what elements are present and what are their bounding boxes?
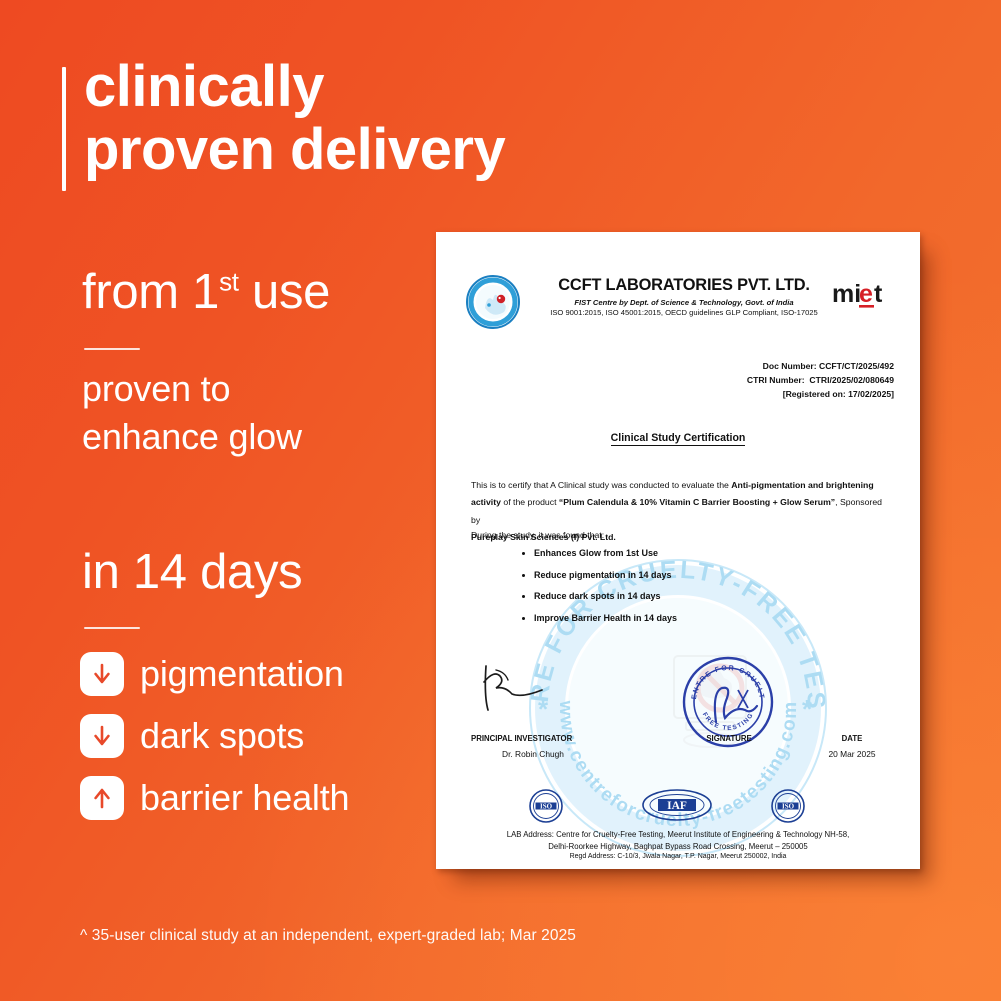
lab-address-line-1: LAB Address: Centre for Cruelty-Free Tes… bbox=[436, 829, 920, 841]
accreditation-badges: ISO IAF ISO bbox=[436, 788, 920, 824]
findings-intro: During the study, it was found that: bbox=[471, 530, 604, 540]
certificate-company-block: CCFT LABORATORIES PVT. LTD. FIST Centre … bbox=[540, 276, 828, 317]
document-meta: Doc Number: CCFT/CT/2025/492 CTRI Number… bbox=[747, 360, 894, 402]
claim-1-heading-post: use bbox=[239, 265, 330, 319]
regd-address: Regd Address: C-10/3, Jwala Nagar, T.P. … bbox=[436, 852, 920, 863]
svg-text:t: t bbox=[874, 280, 883, 308]
para-l2-b: of the product bbox=[501, 497, 559, 507]
para-l2-c: “Plum Calendula & 10% Vitamin C Barrier … bbox=[559, 497, 835, 507]
claim-2-heading: in 14 days bbox=[82, 548, 302, 597]
claim-1-body-line-2: enhance glow bbox=[82, 413, 302, 461]
svg-text:*: * bbox=[802, 694, 813, 724]
certificate-title: Clinical Study Certification bbox=[436, 432, 920, 444]
para-l1-a: This is to certify that A Clinical study… bbox=[471, 480, 731, 490]
miet-logo-icon: mi e t bbox=[832, 278, 898, 312]
footnote-disclaimer: ^ 35-user clinical study at an independe… bbox=[80, 927, 576, 945]
arrow-up-icon bbox=[80, 776, 124, 820]
benefit-label: barrier health bbox=[140, 780, 349, 816]
divider-2 bbox=[84, 627, 140, 629]
divider-1 bbox=[84, 348, 140, 350]
date-label: DATE bbox=[842, 734, 863, 743]
svg-text:ISO: ISO bbox=[540, 802, 553, 810]
headline-line-1: clinically bbox=[84, 54, 324, 119]
claim-1-body-line-1: proven to bbox=[82, 365, 302, 413]
handwritten-signature bbox=[476, 660, 556, 718]
paragraph-line-1: This is to certify that A Clinical study… bbox=[471, 477, 885, 494]
company-subtitle-2: ISO 9001:2015, ISO 45001:2015, OECD guid… bbox=[540, 308, 828, 317]
company-subtitle-1: FIST Centre by Dept. of Science & Techno… bbox=[540, 298, 828, 307]
svg-text:ISO: ISO bbox=[782, 802, 795, 810]
ctri-number-row: CTRI Number: CTRI/2025/02/080649 bbox=[747, 374, 894, 388]
address-block: LAB Address: Centre for Cruelty-Free Tes… bbox=[436, 829, 920, 863]
list-item: Enhances Glow from 1st Use bbox=[534, 548, 894, 558]
svg-text:IAF: IAF bbox=[667, 800, 687, 812]
registered-on: [Registered on: 17/02/2025] bbox=[747, 388, 894, 402]
certificate-header: CCFT LABORATORIES PVT. LTD. FIST Centre … bbox=[436, 254, 920, 340]
para-l1-b: Anti-pigmentation and brightening bbox=[731, 480, 873, 490]
para-l2-a: activity bbox=[471, 497, 501, 507]
iso-badge-icon: ISO bbox=[528, 788, 564, 824]
certificate-card: CENTRE FOR CRUELTY-FREE TESTING www.cent… bbox=[436, 232, 920, 869]
doc-number-value: CCFT/CT/2025/492 bbox=[819, 361, 894, 371]
promo-creative: clinically proven delivery from 1st use … bbox=[0, 0, 1001, 1001]
principal-investigator-label: PRINCIPAL INVESTIGATOR bbox=[471, 734, 572, 743]
principal-investigator-name: Dr. Robin Chugh bbox=[471, 749, 595, 759]
list-item: Reduce pigmentation in 14 days bbox=[534, 570, 894, 580]
cruelty-free-seal-icon bbox=[465, 274, 521, 330]
list-item: Improve Barrier Health in 14 days bbox=[534, 613, 894, 623]
claim-1-heading-pre: from 1 bbox=[82, 265, 219, 319]
paragraph-line-2: activity of the product “Plum Calendula … bbox=[471, 494, 885, 529]
findings-list: Enhances Glow from 1st Use Reduce pigmen… bbox=[512, 548, 894, 634]
doc-number-label: Doc Number: bbox=[763, 361, 817, 371]
certificate-title-text: Clinical Study Certification bbox=[611, 432, 746, 446]
claim-1-body: proven to enhance glow bbox=[82, 365, 302, 460]
iaf-badge-icon: IAF bbox=[641, 788, 713, 822]
lab-address-line-2: Delhi-Roorkee Highway, Baghpat Bypass Ro… bbox=[436, 841, 920, 853]
ctri-number-label: CTRI Number: bbox=[747, 375, 805, 385]
claim-1-heading: from 1st use bbox=[82, 268, 330, 317]
signature-label: SIGNATURE bbox=[706, 734, 751, 743]
date-block: DATE 20 Mar 2025 bbox=[804, 734, 900, 759]
date-value: 20 Mar 2025 bbox=[804, 749, 900, 759]
list-item: Reduce dark spots in 14 days bbox=[534, 591, 894, 601]
signature-block: SIGNATURE bbox=[681, 734, 777, 743]
page-title: clinically proven delivery bbox=[84, 56, 644, 181]
headline-accent-bar bbox=[62, 67, 66, 191]
svg-text:mi: mi bbox=[832, 280, 861, 308]
arrow-down-icon bbox=[80, 652, 124, 696]
principal-investigator-block: PRINCIPAL INVESTIGATOR Dr. Robin Chugh bbox=[471, 734, 595, 759]
benefit-label: dark spots bbox=[140, 718, 304, 754]
arrow-down-icon bbox=[80, 714, 124, 758]
doc-number-row: Doc Number: CCFT/CT/2025/492 bbox=[747, 360, 894, 374]
ctri-number-value: CTRI/2025/02/080649 bbox=[809, 375, 894, 385]
company-name: CCFT LABORATORIES PVT. LTD. bbox=[540, 276, 828, 295]
signature-labels: PRINCIPAL INVESTIGATOR Dr. Robin Chugh S… bbox=[436, 734, 920, 778]
benefit-label: pigmentation bbox=[140, 656, 344, 692]
iso-badge-icon: ISO bbox=[770, 788, 806, 824]
svg-text:e: e bbox=[859, 280, 873, 308]
claim-1-heading-sup: st bbox=[219, 267, 239, 297]
headline-line-2: proven delivery bbox=[84, 119, 644, 182]
